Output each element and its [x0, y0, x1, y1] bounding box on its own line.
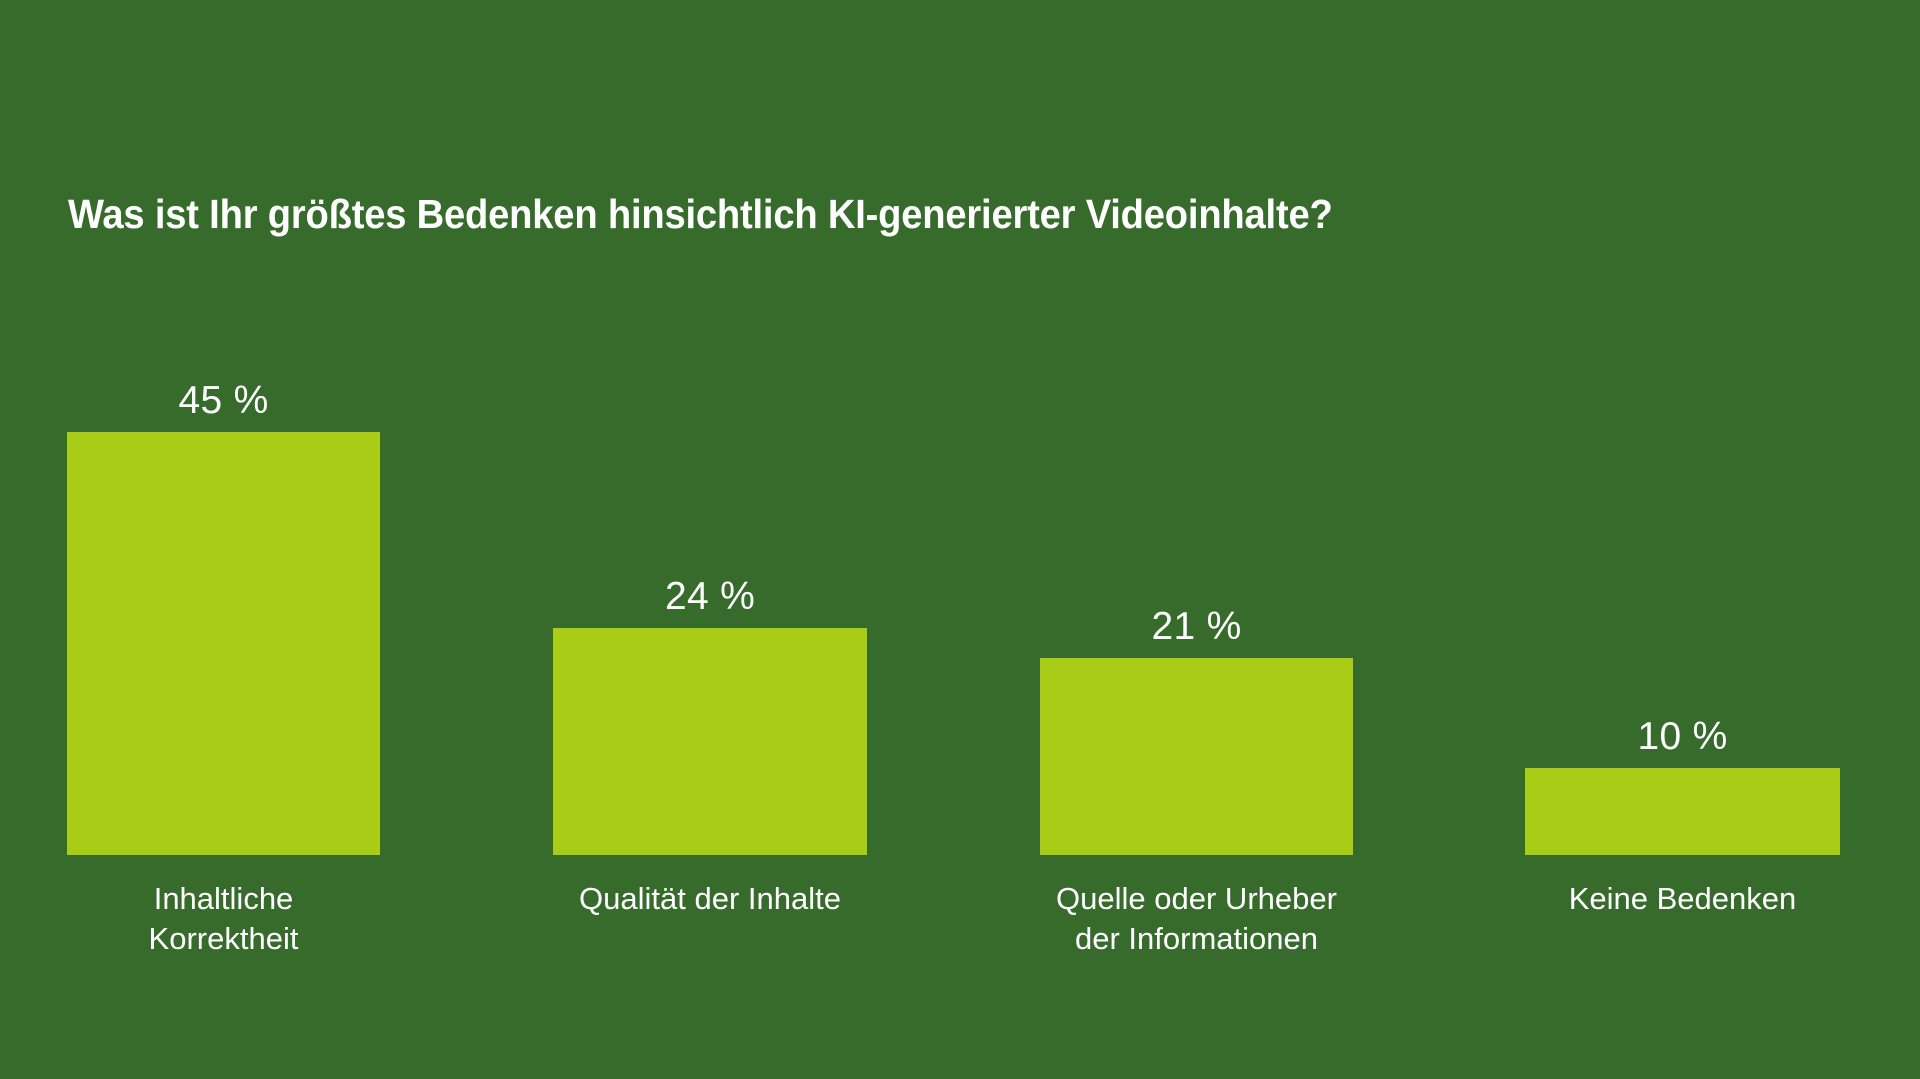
- bar-rect[interactable]: [1040, 658, 1353, 855]
- bar-group-qualitaet-der-inhalte[interactable]: 24 % Qualität der Inhalte: [553, 628, 867, 855]
- bar-category-label: Inhaltliche Korrektheit: [27, 879, 420, 958]
- bar-rect[interactable]: [67, 432, 380, 855]
- bar-value-label: 45 %: [67, 379, 380, 423]
- bar-value-label: 21 %: [1040, 605, 1353, 649]
- bar-group-inhaltliche-korrektheit[interactable]: 45 % Inhaltliche Korrektheit: [67, 432, 380, 855]
- bar-value-label: 10 %: [1525, 715, 1840, 759]
- bar-rect[interactable]: [553, 628, 867, 855]
- chart-container: Was ist Ihr größtes Bedenken hinsichtlic…: [0, 0, 1920, 1079]
- bar-category-label: Quelle oder Urheber der Informationen: [1000, 879, 1393, 958]
- plot-area: 45 % Inhaltliche Korrektheit 24 % Qualit…: [0, 0, 1920, 1079]
- bar-value-label: 24 %: [553, 575, 867, 619]
- bar-group-keine-bedenken[interactable]: 10 % Keine Bedenken: [1525, 768, 1840, 855]
- bar-category-label: Keine Bedenken: [1485, 879, 1880, 919]
- bar-rect[interactable]: [1525, 768, 1840, 855]
- bar-category-label: Qualität der Inhalte: [513, 879, 907, 919]
- bar-group-quelle-oder-urheber[interactable]: 21 % Quelle oder Urheber der Information…: [1040, 658, 1353, 855]
